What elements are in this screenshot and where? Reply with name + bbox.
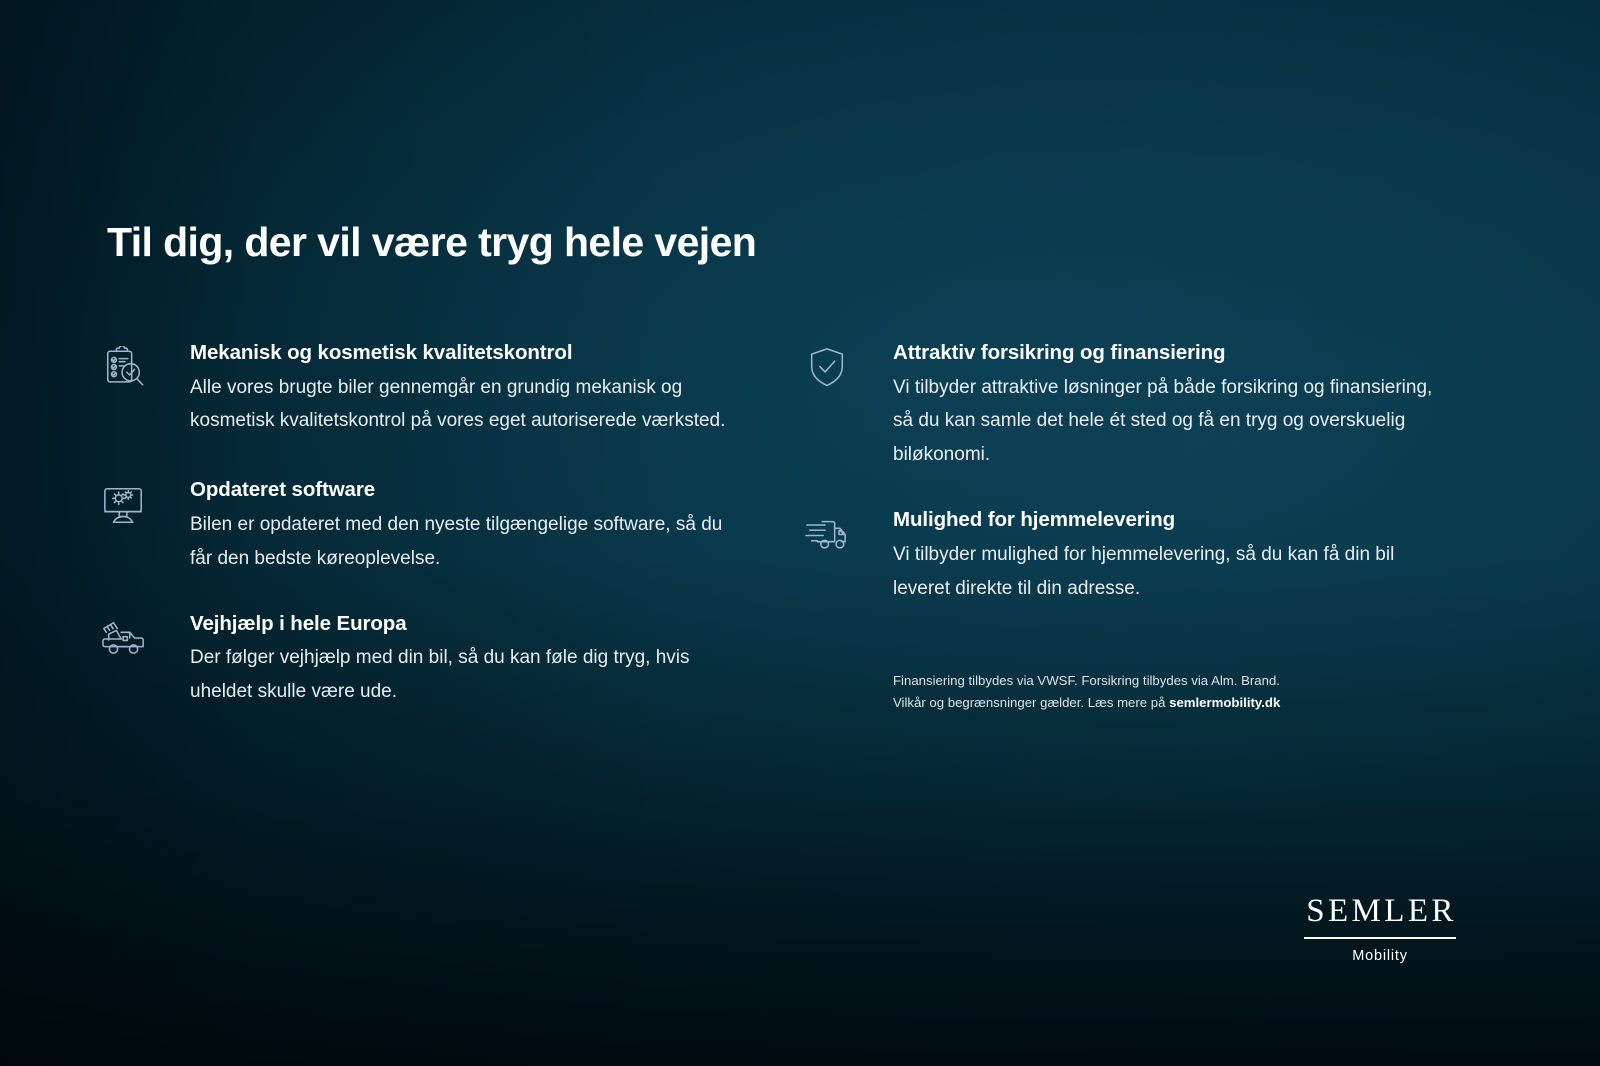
disclaimer-line-1: Finansiering tilbydes via VWSF. Forsikri… bbox=[893, 670, 1363, 692]
semlermobility-link[interactable]: semlermobility.dk bbox=[1169, 695, 1280, 710]
disclaimer-line-2: Vilkår og begrænsninger gælder. Læs mere… bbox=[893, 692, 1363, 714]
feature-body: Der følger vejhjælp med din bil, så du k… bbox=[190, 641, 730, 709]
feature-column-left: Mekanisk og kosmetisk kvalitetskontrol A… bbox=[100, 340, 740, 739]
monitor-gears-icon bbox=[100, 477, 162, 527]
feature-item-insurance-financing: Attraktiv forsikring og finansiering Vi … bbox=[803, 340, 1443, 472]
feature-title: Mulighed for hjemmelevering bbox=[893, 507, 1443, 534]
feature-body: Bilen er opdateret med den nyeste tilgæn… bbox=[190, 508, 730, 576]
shield-check-icon bbox=[803, 340, 865, 390]
feature-body: Vi tilbyder mulighed for hjemmelevering,… bbox=[893, 538, 1443, 606]
feature-item-home-delivery: Mulighed for hjemmelevering Vi tilbyder … bbox=[803, 507, 1443, 605]
feature-column-right: Attraktiv forsikring og finansiering Vi … bbox=[803, 340, 1443, 635]
disclaimer-text: Finansiering tilbydes via VWSF. Forsikri… bbox=[893, 670, 1363, 714]
delivery-truck-icon bbox=[803, 507, 865, 557]
promo-banner: Til dig, der vil være tryg hele vejen bbox=[0, 0, 1600, 1066]
feature-item-roadside-assistance: Vejhjælp i hele Europa Der følger vejhjæ… bbox=[100, 611, 740, 709]
feature-title: Opdateret software bbox=[190, 477, 740, 504]
feature-body: Alle vores brugte biler gennemgår en gru… bbox=[190, 371, 730, 439]
feature-item-software: Opdateret software Bilen er opdateret me… bbox=[100, 477, 740, 575]
logo-subtitle: Mobility bbox=[1300, 948, 1460, 964]
feature-title: Mekanisk og kosmetisk kvalitetskontrol bbox=[190, 340, 740, 367]
feature-title: Attraktiv forsikring og finansiering bbox=[893, 340, 1443, 367]
tow-truck-icon bbox=[100, 611, 162, 661]
logo-divider bbox=[1304, 937, 1456, 939]
semler-mobility-logo: SEMLER Mobility bbox=[1300, 895, 1460, 964]
feature-item-quality-control: Mekanisk og kosmetisk kvalitetskontrol A… bbox=[100, 340, 740, 438]
logo-wordmark: SEMLER bbox=[1300, 895, 1460, 928]
feature-body: Vi tilbyder attraktive løsninger på både… bbox=[893, 371, 1443, 472]
clipboard-check-magnifier-icon bbox=[100, 340, 162, 390]
page-title: Til dig, der vil være tryg hele vejen bbox=[107, 219, 756, 266]
disclaimer-line-2-prefix: Vilkår og begrænsninger gælder. Læs mere… bbox=[893, 695, 1169, 710]
feature-title: Vejhjælp i hele Europa bbox=[190, 611, 740, 638]
